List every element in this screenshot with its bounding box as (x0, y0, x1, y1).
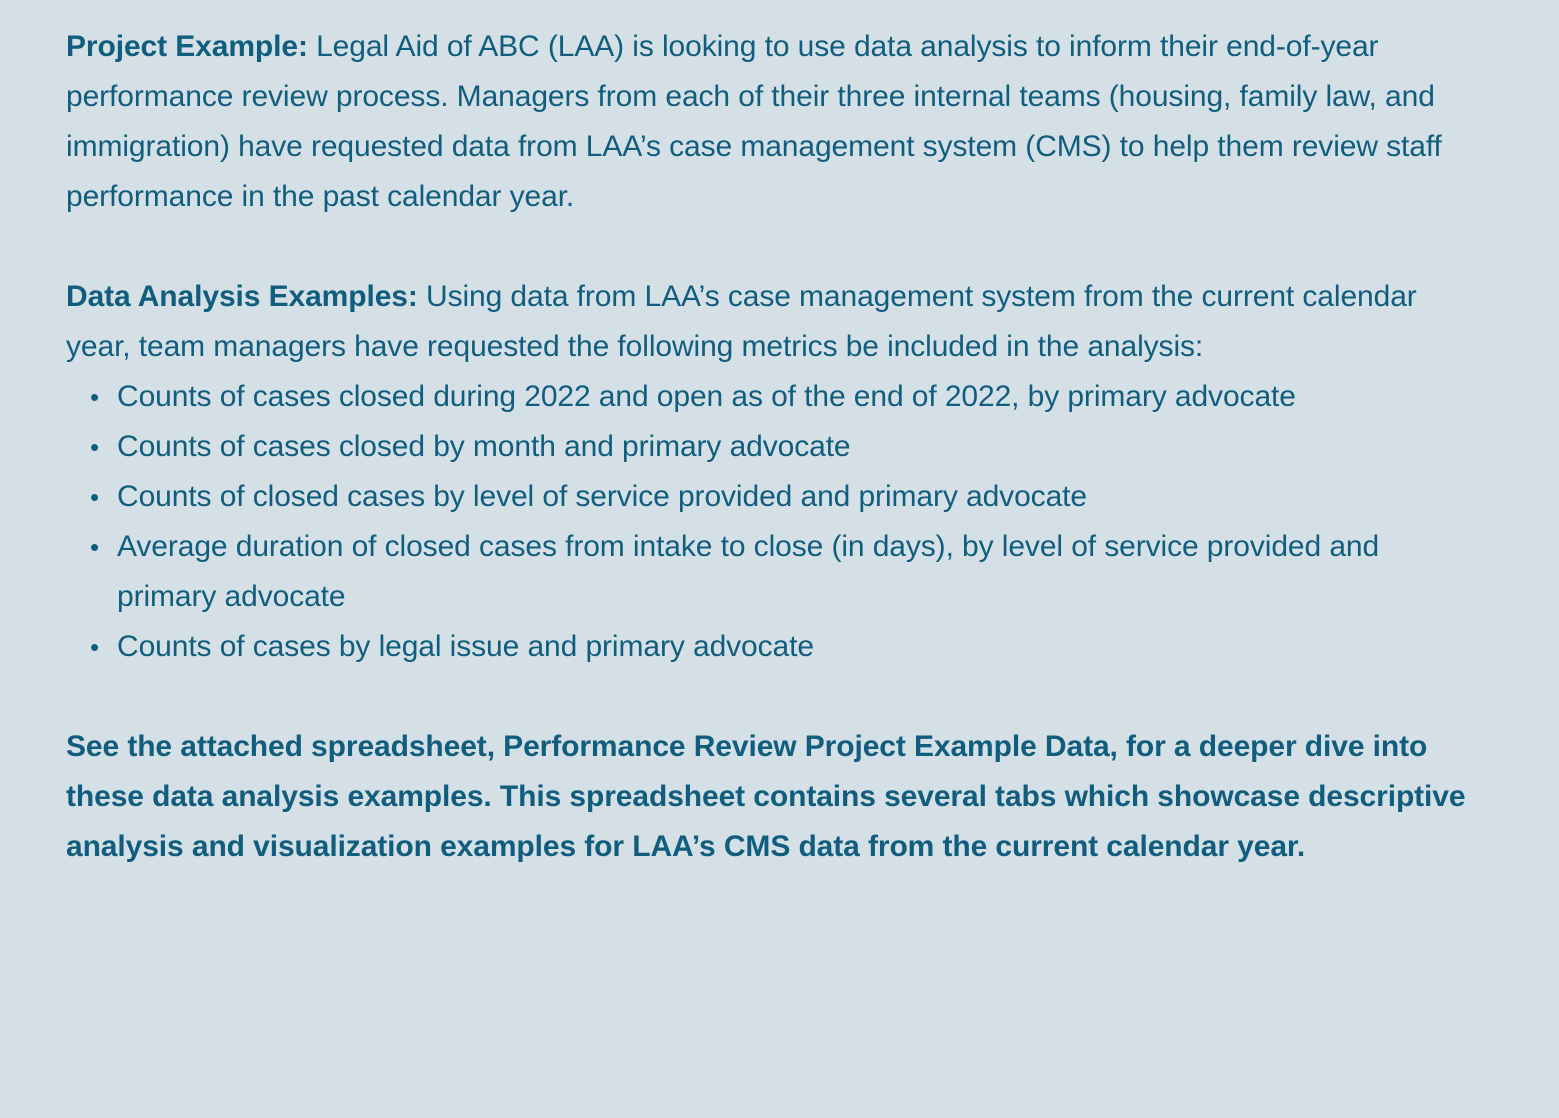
list-item-label: Counts of closed cases by level of servi… (117, 480, 1087, 513)
paragraph-data-analysis-examples: Data Analysis Examples: Using data from … (66, 272, 1476, 372)
bullet-icon: • (90, 622, 99, 672)
paragraph-spacer (66, 672, 1479, 722)
list-item-label: Counts of cases closed by month and prim… (117, 430, 851, 463)
list-item: •Counts of cases by legal issue and prim… (66, 622, 1466, 672)
paragraph-spacer (66, 222, 1479, 272)
list-item: •Counts of closed cases by level of serv… (66, 472, 1466, 522)
list-item-label: Counts of cases closed during 2022 and o… (117, 380, 1296, 413)
list-item-label: Average duration of closed cases from in… (117, 530, 1379, 613)
document-body: Project Example: Legal Aid of ABC (LAA) … (0, 0, 1559, 1118)
bullet-icon: • (90, 522, 99, 572)
bullet-icon: • (90, 422, 99, 472)
paragraph-project-example: Project Example: Legal Aid of ABC (LAA) … (66, 22, 1476, 222)
paragraph-lead-label: Data Analysis Examples: (66, 280, 418, 313)
list-item-label: Counts of cases by legal issue and prima… (117, 630, 814, 663)
bullet-icon: • (90, 372, 99, 422)
bullet-icon: • (90, 472, 99, 522)
list-item: •Counts of cases closed by month and pri… (66, 422, 1466, 472)
list-item: •Counts of cases closed during 2022 and … (66, 372, 1466, 422)
paragraph-lead-label: Project Example: (66, 30, 308, 63)
metrics-bullet-list: •Counts of cases closed during 2022 and … (66, 372, 1466, 672)
paragraph-closing-callout: See the attached spreadsheet, Performanc… (66, 722, 1466, 872)
list-item: •Average duration of closed cases from i… (66, 522, 1466, 622)
